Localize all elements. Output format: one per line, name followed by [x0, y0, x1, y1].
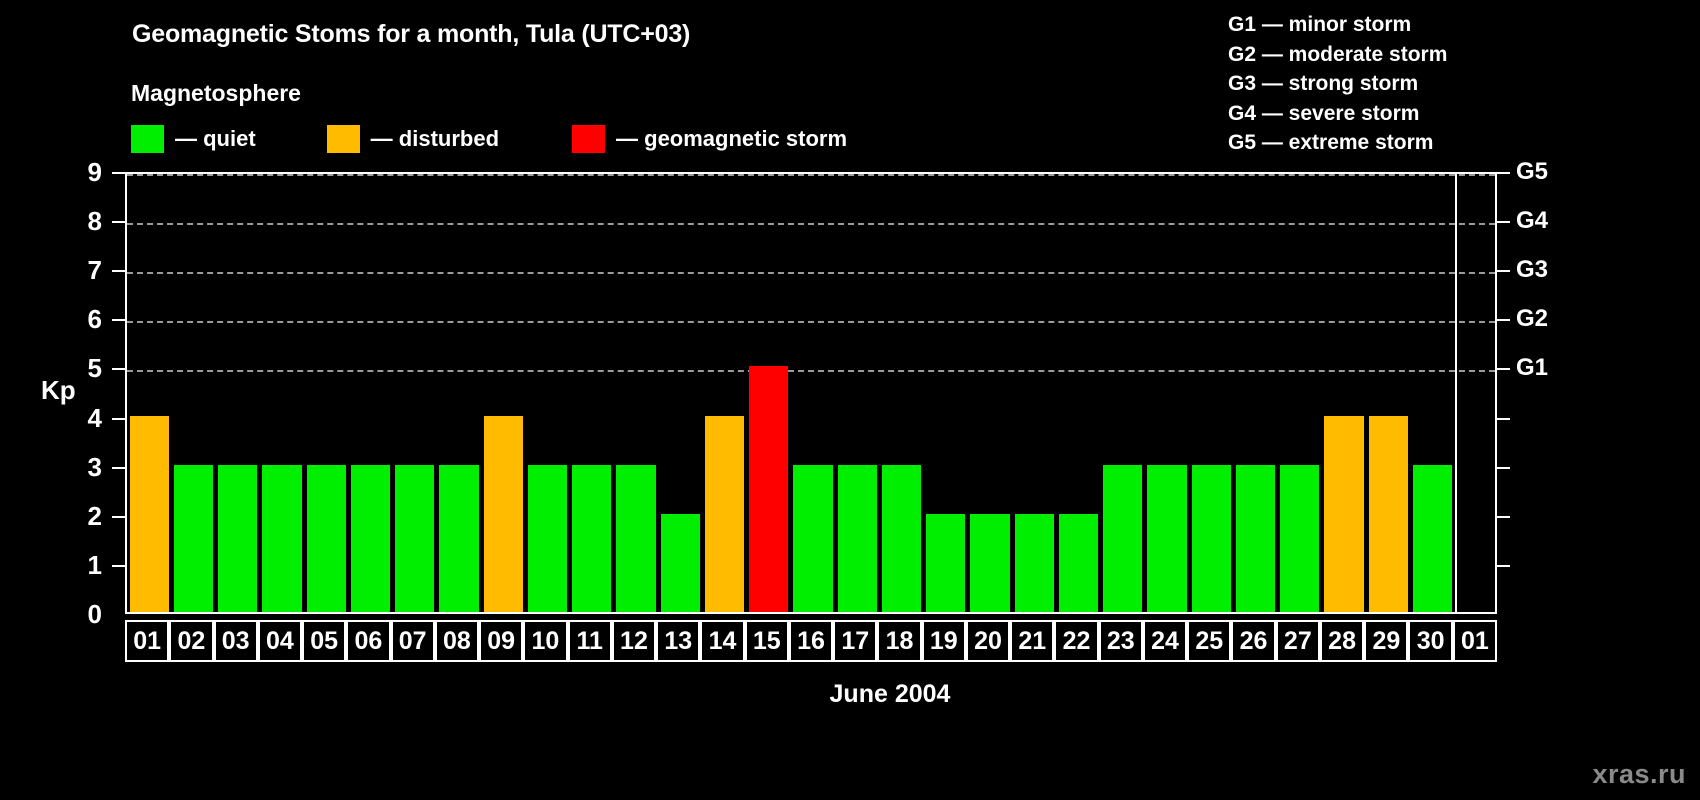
- legend-swatch-storm-icon: [572, 125, 605, 153]
- gscale-line-g3: G3 — strong storm: [1228, 69, 1447, 99]
- day-label-25[interactable]: 25: [1187, 620, 1231, 662]
- bar-day-03[interactable]: [218, 465, 257, 612]
- bar-day-13[interactable]: [661, 514, 700, 612]
- y-tick-mark-5: [112, 368, 125, 370]
- bar-day-28[interactable]: [1324, 416, 1363, 612]
- day-label-27[interactable]: 27: [1276, 620, 1320, 662]
- y-tick-mark-2: [112, 516, 125, 518]
- day-label-24[interactable]: 24: [1143, 620, 1187, 662]
- y-tick-label-1: 1: [62, 552, 102, 578]
- g-tick-label-g4: G4: [1516, 209, 1548, 233]
- day-label-18[interactable]: 18: [877, 620, 921, 662]
- g-tick-mark-g4: [1497, 221, 1510, 223]
- bar-day-08[interactable]: [439, 465, 478, 612]
- bar-day-18[interactable]: [882, 465, 921, 612]
- bar-day-24[interactable]: [1147, 465, 1186, 612]
- x-axis-title: June 2004: [0, 680, 1700, 709]
- g-tick-mark-g3: [1497, 270, 1510, 272]
- bar-day-02[interactable]: [174, 465, 213, 612]
- y-tick-mark-7: [112, 270, 125, 272]
- month-divider: [1455, 174, 1457, 612]
- bar-day-21[interactable]: [1015, 514, 1054, 612]
- y-tick-label-5: 5: [62, 355, 102, 381]
- y-tick-mark-1: [112, 565, 125, 567]
- y-tick-mark-3: [112, 467, 125, 469]
- legend-item-storm: — geomagnetic storm: [572, 124, 847, 154]
- bar-day-01[interactable]: [130, 416, 169, 612]
- gscale-legend: G1 — minor storm G2 — moderate storm G3 …: [1228, 10, 1447, 158]
- legend-label-disturbed: — disturbed: [371, 126, 499, 152]
- bar-day-10[interactable]: [528, 465, 567, 612]
- y-tick-label-4: 4: [62, 405, 102, 431]
- day-label-28[interactable]: 28: [1320, 620, 1364, 662]
- bar-day-07[interactable]: [395, 465, 434, 612]
- y-tick-label-6: 6: [62, 306, 102, 332]
- day-label-22[interactable]: 22: [1054, 620, 1098, 662]
- day-label-01[interactable]: 01: [125, 620, 169, 662]
- g-tick-mark-g5: [1497, 172, 1510, 174]
- g-tick-mark-g2: [1497, 319, 1510, 321]
- day-label-29[interactable]: 29: [1364, 620, 1408, 662]
- day-label-17[interactable]: 17: [833, 620, 877, 662]
- bar-day-09[interactable]: [484, 416, 523, 612]
- day-label-01-next-month[interactable]: 01: [1453, 620, 1497, 662]
- day-label-19[interactable]: 19: [922, 620, 966, 662]
- bar-day-15[interactable]: [749, 366, 788, 612]
- legend-swatch-disturbed-icon: [327, 125, 360, 153]
- day-label-26[interactable]: 26: [1231, 620, 1275, 662]
- day-label-16[interactable]: 16: [789, 620, 833, 662]
- legend: — quiet — disturbed — geomagnetic storm: [131, 124, 847, 154]
- bar-day-16[interactable]: [793, 465, 832, 612]
- y-tick-label-9: 9: [62, 159, 102, 185]
- day-label-03[interactable]: 03: [214, 620, 258, 662]
- bar-day-17[interactable]: [838, 465, 877, 612]
- g-tick-label-g5: G5: [1516, 160, 1548, 184]
- day-label-14[interactable]: 14: [700, 620, 744, 662]
- bar-day-11[interactable]: [572, 465, 611, 612]
- day-label-11[interactable]: 11: [568, 620, 612, 662]
- g-tick-label-g1: G1: [1516, 356, 1548, 380]
- bar-day-04[interactable]: [262, 465, 301, 612]
- bar-day-27[interactable]: [1280, 465, 1319, 612]
- gscale-line-g2: G2 — moderate storm: [1228, 40, 1447, 70]
- day-label-02[interactable]: 02: [169, 620, 213, 662]
- bars-layer: [127, 174, 1495, 612]
- gscale-line-g4: G4 — severe storm: [1228, 99, 1447, 129]
- legend-label-storm: — geomagnetic storm: [616, 126, 847, 152]
- magnetosphere-label: Magnetosphere: [131, 80, 301, 107]
- day-label-04[interactable]: 04: [258, 620, 302, 662]
- y-tick-label-8: 8: [62, 208, 102, 234]
- day-label-10[interactable]: 10: [523, 620, 567, 662]
- bar-day-29[interactable]: [1369, 416, 1408, 612]
- y-tick-label-3: 3: [62, 454, 102, 480]
- bar-day-14[interactable]: [705, 416, 744, 612]
- bar-day-30[interactable]: [1413, 465, 1452, 612]
- bar-day-12[interactable]: [616, 465, 655, 612]
- y-tick-label-2: 2: [62, 503, 102, 529]
- gscale-line-g5: G5 — extreme storm: [1228, 128, 1447, 158]
- page-title: Geomagnetic Stoms for a month, Tula (UTC…: [132, 20, 690, 49]
- watermark: xras.ru: [1592, 759, 1686, 790]
- y-tick-mark-6: [112, 319, 125, 321]
- g-tick-label-g2: G2: [1516, 307, 1548, 331]
- day-label-13[interactable]: 13: [656, 620, 700, 662]
- legend-swatch-quiet-icon: [131, 125, 164, 153]
- g-tick-label-g3: G3: [1516, 258, 1548, 282]
- y-tick-mark-9: [112, 172, 125, 174]
- bar-day-22[interactable]: [1059, 514, 1098, 612]
- bar-day-20[interactable]: [970, 514, 1009, 612]
- day-label-09[interactable]: 09: [479, 620, 523, 662]
- bar-day-26[interactable]: [1236, 465, 1275, 612]
- bar-day-19[interactable]: [926, 514, 965, 612]
- day-label-30[interactable]: 30: [1408, 620, 1452, 662]
- day-label-07[interactable]: 07: [391, 620, 435, 662]
- y-tick-mark-4: [112, 418, 125, 420]
- y-tick-mark-8: [112, 221, 125, 223]
- plot-area: [125, 172, 1497, 614]
- bar-day-23[interactable]: [1103, 465, 1142, 612]
- y-tick-label-7: 7: [62, 257, 102, 283]
- gscale-line-g1: G1 — minor storm: [1228, 10, 1447, 40]
- legend-label-quiet: — quiet: [175, 126, 256, 152]
- bar-day-06[interactable]: [351, 465, 390, 612]
- day-label-12[interactable]: 12: [612, 620, 656, 662]
- bar-day-05[interactable]: [307, 465, 346, 612]
- day-label-05[interactable]: 05: [302, 620, 346, 662]
- day-label-06[interactable]: 06: [346, 620, 390, 662]
- y-tick-label-0: 0: [62, 601, 102, 627]
- day-label-20[interactable]: 20: [966, 620, 1010, 662]
- legend-item-quiet: — quiet: [131, 124, 256, 154]
- day-label-21[interactable]: 21: [1010, 620, 1054, 662]
- legend-item-disturbed: — disturbed: [327, 124, 499, 154]
- g-tick-mark-g1: [1497, 368, 1510, 370]
- g-tick-mark-kp-4: [1497, 418, 1510, 420]
- day-label-08[interactable]: 08: [435, 620, 479, 662]
- x-axis-day-labels: 0102030405060708091011121314151617181920…: [125, 620, 1497, 662]
- day-label-23[interactable]: 23: [1099, 620, 1143, 662]
- g-tick-mark-kp-3: [1497, 467, 1510, 469]
- day-label-15[interactable]: 15: [745, 620, 789, 662]
- g-tick-mark-kp-1: [1497, 565, 1510, 567]
- g-tick-mark-kp-2: [1497, 516, 1510, 518]
- bar-day-25[interactable]: [1192, 465, 1231, 612]
